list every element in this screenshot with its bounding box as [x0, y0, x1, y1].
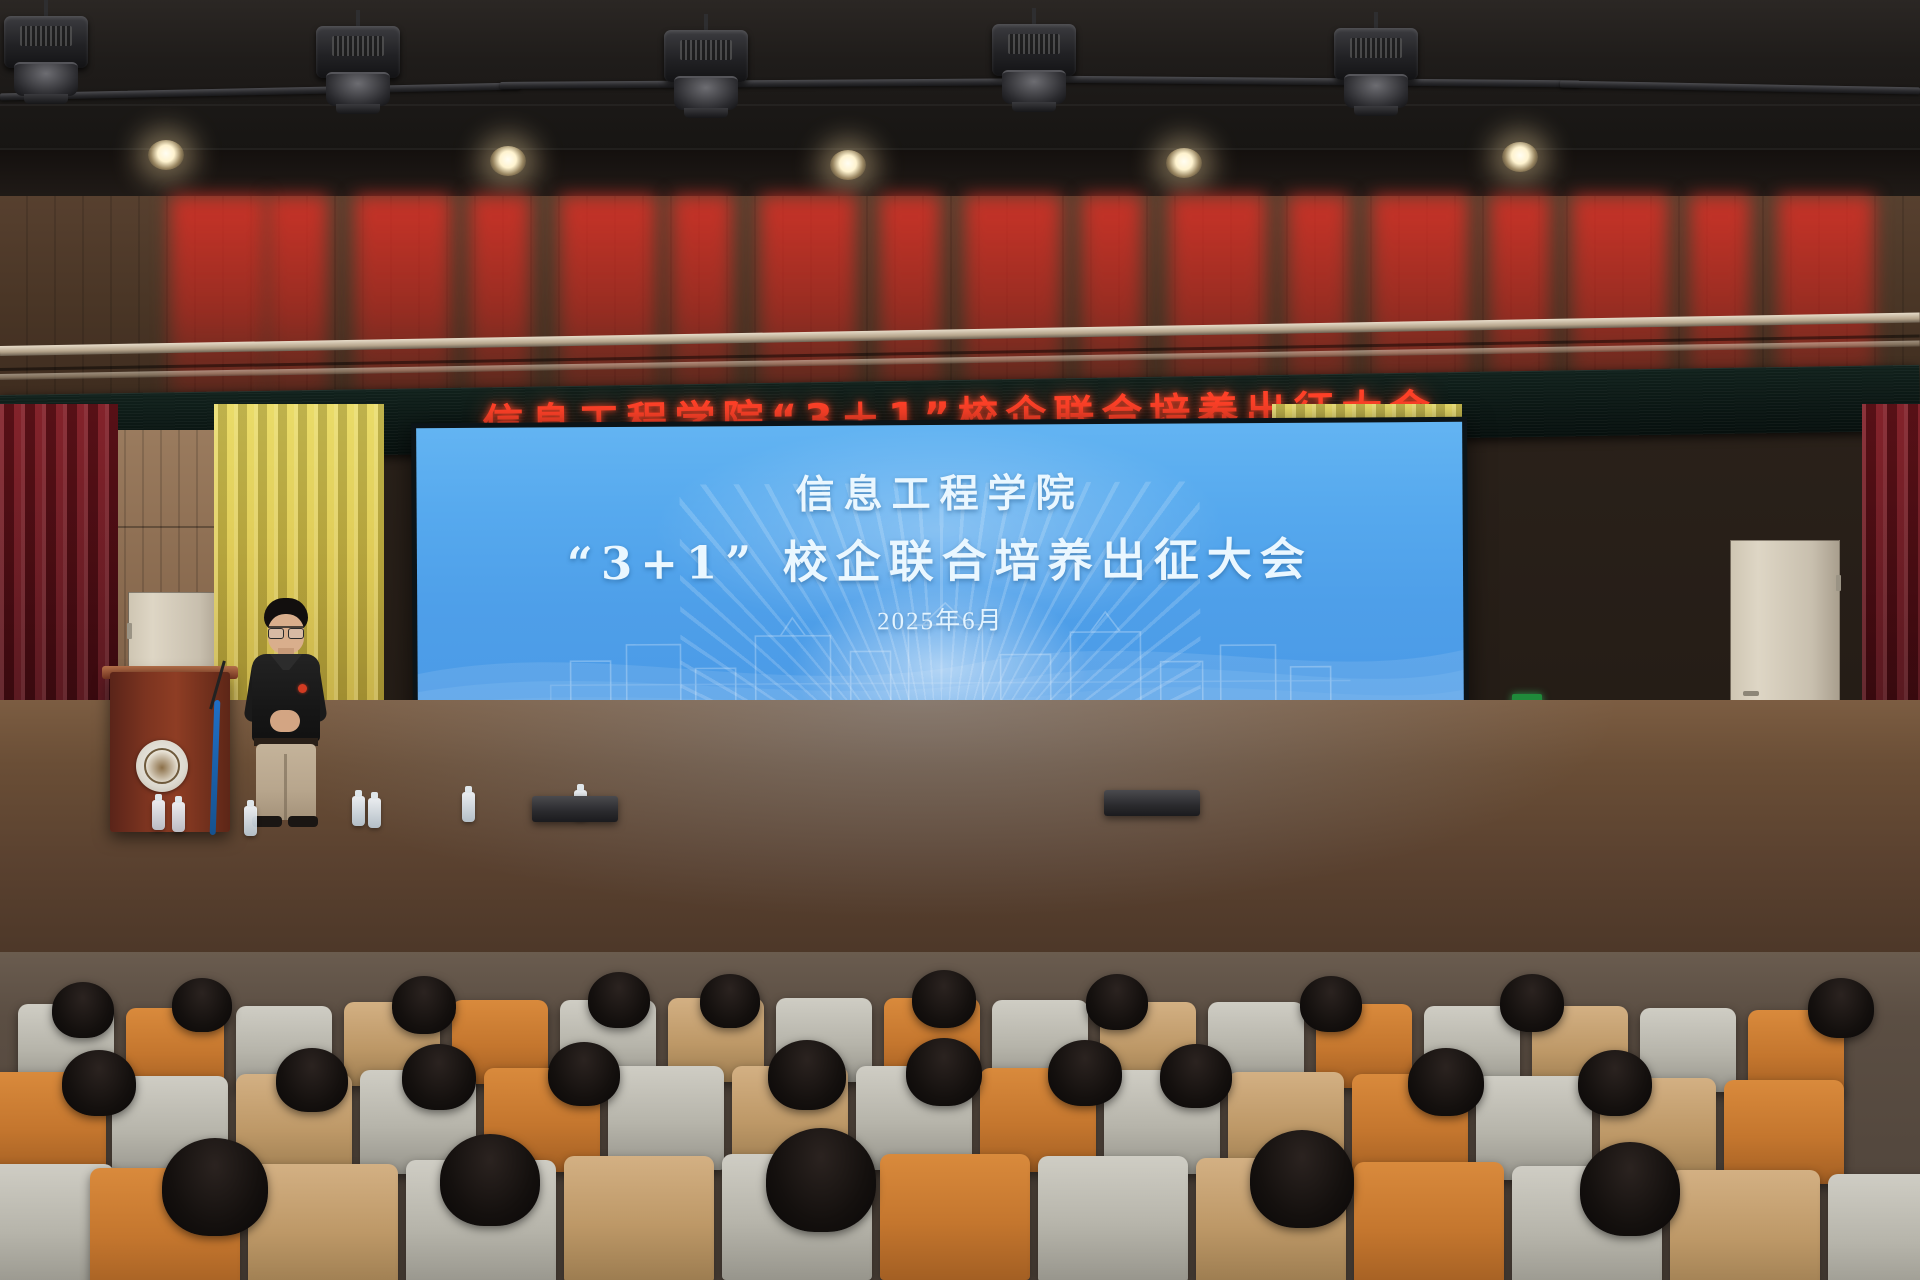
audience-seat[interactable] — [1354, 1162, 1504, 1280]
spotlight-icon — [1330, 12, 1422, 122]
audience-head — [62, 1050, 136, 1116]
spotlight-icon — [988, 8, 1080, 118]
audience-head — [440, 1134, 540, 1226]
audience-head — [1160, 1044, 1232, 1108]
audience-head — [1408, 1048, 1484, 1116]
downlight-icon — [1166, 148, 1202, 178]
audience-head — [906, 1038, 982, 1106]
screen-title-line2: “3+1” 校企联合培养出征大会 — [417, 522, 1463, 593]
ceiling-panel-line — [0, 104, 1920, 106]
spotlight-icon — [660, 14, 752, 124]
audience-seat[interactable] — [1828, 1174, 1920, 1280]
audience-head — [700, 974, 760, 1028]
downlight-icon — [148, 140, 184, 170]
water-bottle-icon — [368, 798, 381, 828]
audience-head — [548, 1042, 620, 1106]
audience-head — [402, 1044, 476, 1110]
stage-monitor-icon — [532, 796, 618, 822]
water-bottle-icon — [462, 792, 475, 822]
downlight-icon — [490, 146, 526, 176]
audience-head — [1048, 1040, 1122, 1106]
audience-head — [52, 982, 114, 1038]
audience-head — [1808, 978, 1874, 1038]
screen-date: 2025年6月 — [417, 598, 1463, 640]
ceiling-upper — [0, 0, 1920, 150]
audience-seat[interactable] — [608, 1066, 724, 1170]
audience-head — [392, 976, 456, 1034]
audience-head — [588, 972, 650, 1028]
audience-head — [1250, 1130, 1354, 1228]
presenter-figure — [240, 598, 330, 828]
audience-seat[interactable] — [880, 1154, 1030, 1280]
downlight-icon — [830, 150, 866, 180]
screen-title-line1: 信息工程学院 — [416, 460, 1462, 522]
audience-seat[interactable] — [1038, 1156, 1188, 1280]
audience-head — [1500, 974, 1564, 1032]
downlight-icon — [1502, 142, 1538, 172]
audience-seat[interactable] — [1724, 1080, 1844, 1184]
led-display-screen: 信息工程学院 “3+1” 校企联合培养出征大会 2025年6月 — [411, 417, 1469, 723]
lapel-badge-icon — [298, 684, 307, 693]
water-bottle-icon — [352, 796, 365, 826]
audience-head — [912, 970, 976, 1028]
spotlight-icon — [0, 0, 92, 110]
audience-area — [0, 952, 1920, 1280]
audience-head — [172, 978, 232, 1032]
eyeglasses-icon — [268, 626, 304, 635]
spotlight-icon — [312, 10, 404, 120]
audience-head — [1300, 976, 1362, 1032]
water-bottle-icon — [244, 806, 257, 836]
water-bottle-icon — [172, 802, 185, 832]
audience-head — [1580, 1142, 1680, 1236]
audience-head — [1578, 1050, 1652, 1116]
water-bottle-icon — [152, 800, 165, 830]
audience-seat[interactable] — [1670, 1170, 1820, 1280]
audience-seat[interactable] — [248, 1164, 398, 1280]
audience-head — [162, 1138, 268, 1236]
audience-head — [768, 1040, 846, 1110]
audience-head — [276, 1048, 348, 1112]
auditorium-scene: 信息工程学院“3＋1”校企联合培养出征大会 — [0, 0, 1920, 1280]
stage-monitor-icon — [1104, 790, 1200, 816]
audience-head — [766, 1128, 876, 1232]
audience-head — [1086, 974, 1148, 1030]
university-crest-icon — [136, 740, 188, 792]
audience-seat[interactable] — [564, 1156, 714, 1280]
